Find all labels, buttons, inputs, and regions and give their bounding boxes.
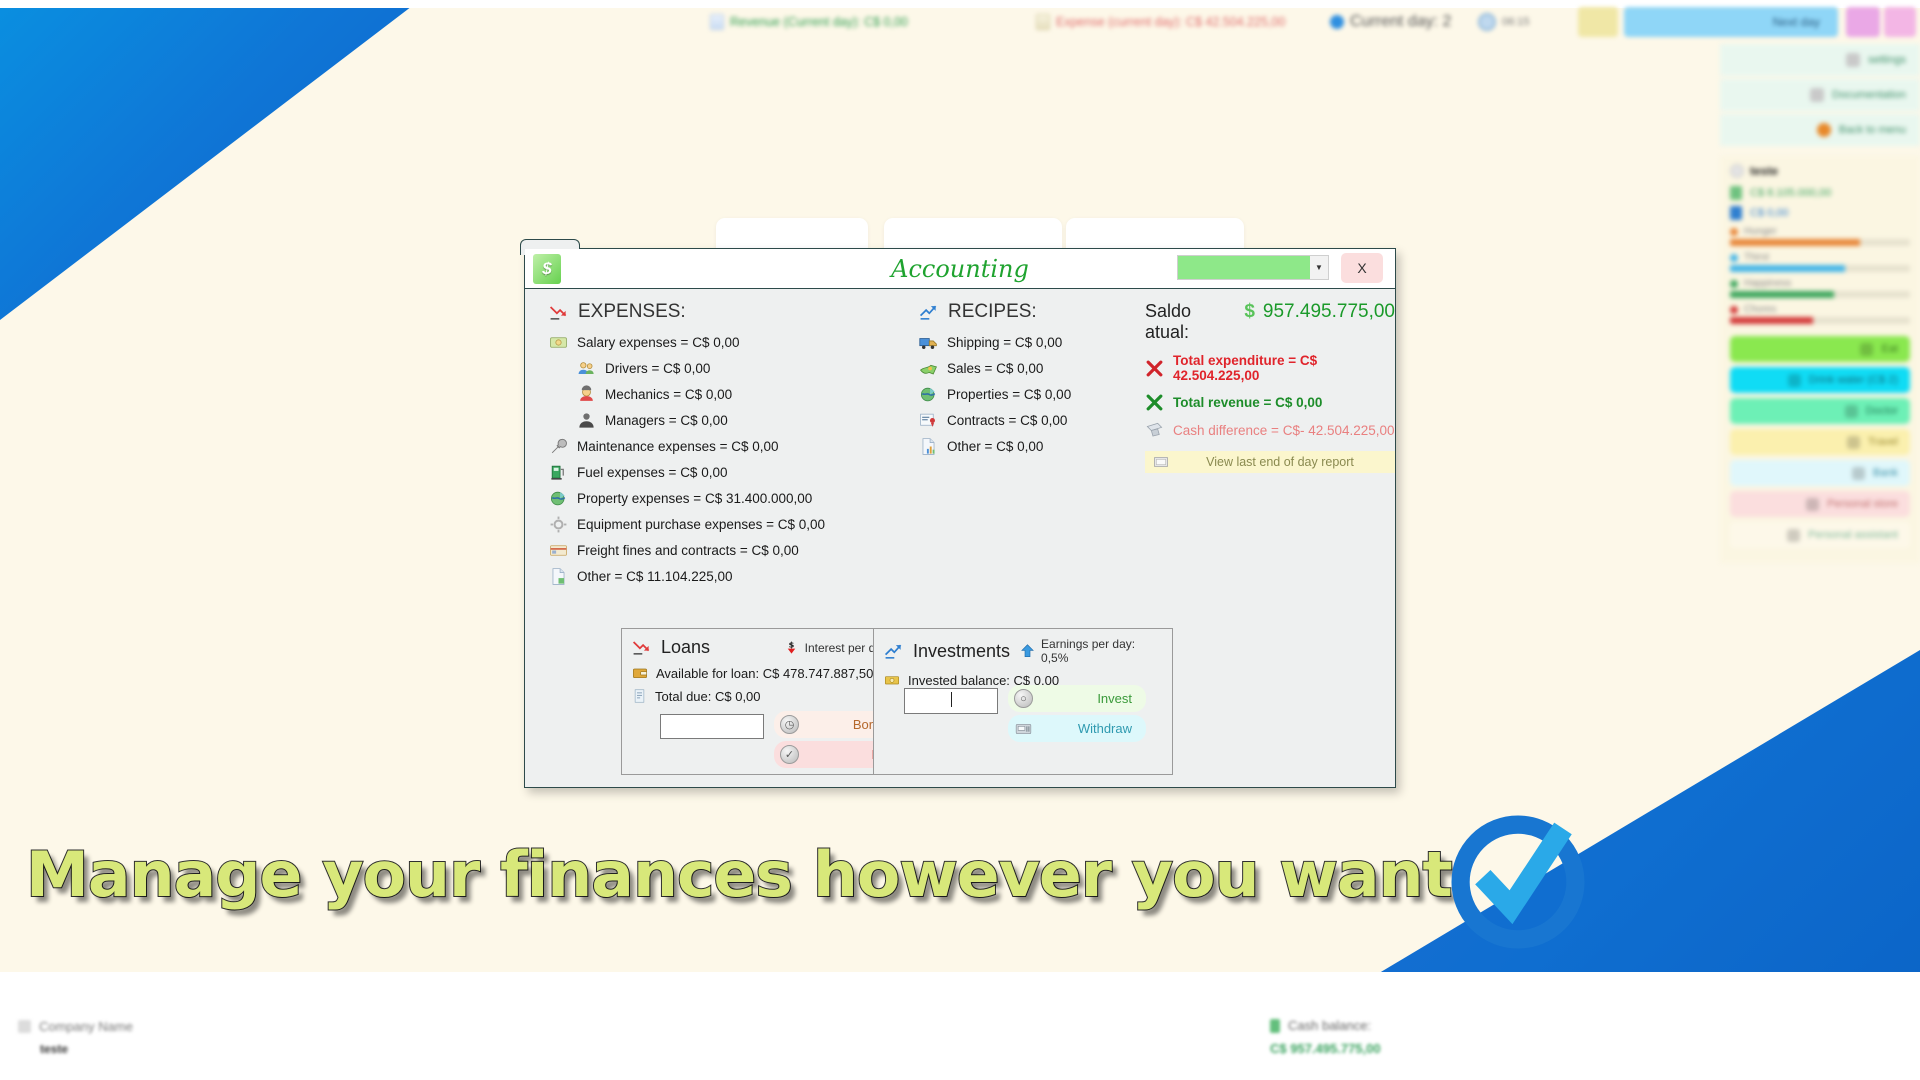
sidebar-item-label: Documentation <box>1832 89 1906 101</box>
next-day-label: Next day <box>1773 15 1820 29</box>
fuelpump-icon <box>549 463 568 482</box>
revenue-icon <box>710 14 724 30</box>
toolbar-expense-label: Expense (current day): C$ 42.504.225,00 <box>1056 15 1285 29</box>
ticket-icon <box>549 541 568 560</box>
expense-row: Maintenance expenses = C$ 0,00 <box>549 437 889 456</box>
recipe-row: Other = C$ 0,00 <box>919 437 1149 456</box>
loans-title: Loans <box>661 637 710 658</box>
svg-text:$: $ <box>788 639 794 649</box>
truck-icon <box>919 333 938 352</box>
sidebar-button-label: Drink water (C$ 2) <box>1809 374 1898 386</box>
trend-up-icon <box>919 303 938 322</box>
text-caret <box>951 692 952 707</box>
recipe-label: Properties = C$ 0,00 <box>947 387 1071 402</box>
bank-icon <box>1730 206 1742 220</box>
property-icon <box>919 385 938 404</box>
money-icon <box>549 333 568 352</box>
chevron-down-icon[interactable]: ▼ <box>1310 256 1328 279</box>
invest-label: Invest <box>1041 691 1132 706</box>
blue-check-badge-icon <box>1448 812 1588 952</box>
recipe-label: Shipping = C$ 0,00 <box>947 335 1062 350</box>
footer-company: Company Name teste <box>18 1019 133 1056</box>
stat-hunger: Hunger <box>1730 226 1910 246</box>
recipe-row: Contracts = C$ 0,00 <box>919 411 1149 430</box>
cash-icon <box>884 672 900 688</box>
recipe-label: Other = C$ 0,00 <box>947 439 1043 454</box>
info-icon <box>1330 15 1344 29</box>
atm-icon <box>1014 721 1033 737</box>
window-titlebar[interactable]: $ Accounting ▼ X <box>525 249 1395 289</box>
recipes-heading: RECIPES: <box>919 301 1149 323</box>
store-icon <box>1806 498 1819 511</box>
stat-label: Hunger <box>1744 226 1777 237</box>
toolbar-expense: Expense (current day): C$ 42.504.225,00 <box>1036 14 1285 30</box>
sales-icon <box>919 359 938 378</box>
toolbar-extra-button-2[interactable] <box>1884 7 1916 37</box>
trend-down-icon <box>632 638 651 657</box>
expense-label: Managers = C$ 0,00 <box>605 413 728 428</box>
sidebar-button-travel[interactable]: Travel <box>1730 429 1910 455</box>
sidebar-button-bank[interactable]: Bank <box>1730 460 1910 486</box>
balance-label: Saldo atual: <box>1145 301 1236 343</box>
stat-bar <box>1730 317 1910 324</box>
arrow-up-icon <box>1020 642 1035 660</box>
withdraw-button[interactable]: Withdraw <box>1008 715 1146 742</box>
expense-row: Other = C$ 11.104.225,00 <box>549 567 889 586</box>
cash-difference: Cash difference = C$- 42.504.225,00 <box>1145 421 1395 440</box>
footer-cash-balance: Cash balance: C$ 957.495.775,00 <box>1270 1018 1381 1056</box>
coin-icon: ○ <box>1014 689 1033 708</box>
dropdown-value <box>1178 256 1310 279</box>
stat-happiness: Happiness <box>1730 278 1910 298</box>
report-icon <box>1153 454 1169 470</box>
expense-label: Drivers = C$ 0,00 <box>605 361 710 376</box>
chartdoc-icon <box>919 437 938 456</box>
stat-label: Thirst <box>1744 252 1769 263</box>
sidebar-button-drink-water[interactable]: Drink water (C$ 2) <box>1730 367 1910 393</box>
wallet-icon <box>632 665 648 681</box>
sidebar-item-settings[interactable]: settings <box>1720 44 1920 76</box>
invest-button[interactable]: ○ Invest <box>1008 685 1146 712</box>
sidebar-item-documentation[interactable]: Documentation <box>1720 79 1920 111</box>
toolbar-revenue: Revenue (Current day): C$ 0,00 <box>710 14 908 30</box>
expense-row: Freight fines and contracts = C$ 0,00 <box>549 541 889 560</box>
total-expenditure: Total expenditure = C$ 42.504.225,00 <box>1145 353 1395 383</box>
book-icon <box>1810 88 1824 102</box>
total-expenditure-label: Total expenditure = C$ 42.504.225,00 <box>1173 353 1395 383</box>
sidebar-button-eat[interactable]: Eat <box>1730 336 1910 362</box>
balance-value: 957.495.775,00 <box>1263 301 1395 323</box>
chores-icon <box>1730 306 1738 314</box>
expense-label: Property expenses = C$ 31.400.000,00 <box>577 491 812 506</box>
expense-label: Mechanics = C$ 0,00 <box>605 387 732 402</box>
sidebar-button-label: Travel <box>1868 436 1898 448</box>
expense-row: Mechanics = C$ 0,00 <box>577 385 889 404</box>
expense-row: Fuel expenses = C$ 0,00 <box>549 463 889 482</box>
expenses-column: EXPENSES: Salary expenses = C$ 0,00 Driv… <box>549 301 889 586</box>
summary-column: Saldo atual: $ 957.495.775,00 Total expe… <box>1145 301 1395 473</box>
company-name-label: Company Name <box>39 1019 133 1034</box>
red-cross-icon <box>1145 359 1164 378</box>
total-revenue-label: Total revenue = C$ 0,00 <box>1173 395 1322 410</box>
player-card: teste C$ 8.105.000,00 C$ 0,00 Hunger Thi… <box>1720 156 1920 563</box>
bill-icon <box>1145 421 1164 440</box>
receipt-icon <box>632 688 647 704</box>
cash-balance-label: Cash balance: <box>1288 1018 1371 1033</box>
recipe-row: Properties = C$ 0,00 <box>919 385 1149 404</box>
sidebar-button-label: Eat <box>1881 343 1898 355</box>
expense-label: Salary expenses = C$ 0,00 <box>577 335 739 350</box>
building-icon <box>18 1020 31 1033</box>
property-icon <box>549 489 568 508</box>
sidebar-button-personal-store[interactable]: Personal store <box>1730 491 1910 517</box>
sidebar-item-label: Back to menu <box>1839 124 1906 136</box>
toolbar-clock-label: 06:15 <box>1502 16 1530 28</box>
report-button-label: View last end of day report <box>1177 455 1383 469</box>
expense-label: Maintenance expenses = C$ 0,00 <box>577 439 779 454</box>
top-toolbar[interactable]: Revenue (Current day): C$ 0,00 Expense (… <box>0 0 1920 44</box>
expense-row: Equipment purchase expenses = C$ 0,00 <box>549 515 889 534</box>
assistant-icon <box>1787 529 1800 542</box>
recipe-label: Contracts = C$ 0,00 <box>947 413 1067 428</box>
promo-banner-text: Manage your finances however you want <box>26 838 1452 911</box>
company-name-value: teste <box>40 1042 133 1056</box>
player-name: teste <box>1750 164 1778 178</box>
drivers-icon <box>577 359 596 378</box>
stat-bar <box>1730 239 1910 246</box>
contract-icon <box>919 411 938 430</box>
expense-icon <box>1036 14 1050 30</box>
investments-rate-label: Earnings per day: 0,5% <box>1041 637 1162 665</box>
player-bank: C$ 0,00 <box>1730 206 1910 220</box>
thirst-icon <box>1730 254 1738 262</box>
investments-panel: Investments Earnings per day: 0,5% Inves… <box>873 628 1173 775</box>
loan-amount-input[interactable] <box>660 714 764 739</box>
clock-icon <box>1478 13 1496 31</box>
next-day-button[interactable]: Next day <box>1624 7 1838 37</box>
cash-balance-value: C$ 957.495.775,00 <box>1270 1041 1381 1056</box>
sidebar-button-label: Personal assistant <box>1808 529 1898 541</box>
manager-icon <box>577 411 596 430</box>
sidebar-action-buttons[interactable]: Eat Drink water (C$ 2) Doctor Travel Ban… <box>1730 336 1910 548</box>
loans-available-label: Available for loan: C$ 478.747.887,50 <box>656 666 873 681</box>
toolbar-day-label: Current day: 2 <box>1350 13 1451 31</box>
expense-label: Equipment purchase expenses = C$ 0,00 <box>577 517 825 532</box>
hunger-icon <box>1730 228 1738 236</box>
doctor-icon <box>1845 405 1858 418</box>
toolbar-extra-button-1[interactable] <box>1846 7 1880 37</box>
investments-earnings-rate: Earnings per day: 0,5% <box>1020 637 1162 665</box>
decor-white-strip-bottom <box>0 972 1920 1080</box>
equipment-icon <box>549 515 568 534</box>
stat-thirst: Thirst <box>1730 252 1910 272</box>
toolbar-current-day: Current day: 2 <box>1330 13 1451 31</box>
expense-row: Managers = C$ 0,00 <box>577 411 889 430</box>
bank-icon <box>1852 467 1865 480</box>
view-last-end-of-day-report-button[interactable]: View last end of day report <box>1145 451 1395 473</box>
trend-up-icon <box>884 642 903 661</box>
window-dropdown[interactable]: ▼ <box>1177 255 1329 280</box>
toolbar-pause-button[interactable] <box>1578 7 1618 37</box>
happiness-icon <box>1730 280 1738 288</box>
toolbar-revenue-label: Revenue (Current day): C$ 0,00 <box>730 15 908 29</box>
sidebar-button-label: Bank <box>1873 467 1898 479</box>
stat-bar <box>1730 291 1910 298</box>
expense-row: Salary expenses = C$ 0,00 <box>549 333 889 352</box>
mechanic-icon <box>577 385 596 404</box>
recipes-column: RECIPES: Shipping = C$ 0,00 Sales = C$ 0… <box>919 301 1149 456</box>
back-icon <box>1817 123 1831 137</box>
food-icon <box>1860 343 1873 356</box>
current-balance: Saldo atual: $ 957.495.775,00 <box>1145 301 1395 343</box>
expense-label: Freight fines and contracts = C$ 0,00 <box>577 543 799 558</box>
green-cross-icon <box>1145 393 1164 412</box>
sidebar-button-doctor[interactable]: Doctor <box>1730 398 1910 424</box>
investments-header: Investments Earnings per day: 0,5% <box>874 629 1172 665</box>
expense-row: Property expenses = C$ 31.400.000,00 <box>549 489 889 508</box>
expense-row: Drivers = C$ 0,00 <box>577 359 889 378</box>
window-body: EXPENSES: Salary expenses = C$ 0,00 Driv… <box>525 289 1395 788</box>
wrench-icon <box>549 437 568 456</box>
avatar <box>1730 164 1744 178</box>
stat-chores: Chores <box>1730 304 1910 324</box>
recipe-label: Sales = C$ 0,00 <box>947 361 1043 376</box>
dollar-icon: $ <box>1244 301 1255 323</box>
stat-label: Happiness <box>1744 278 1791 289</box>
recipe-row: Shipping = C$ 0,00 <box>919 333 1149 352</box>
stat-label: Chores <box>1744 304 1776 315</box>
money-icon <box>1730 186 1742 200</box>
sidebar-item-label: settings <box>1868 54 1906 66</box>
expense-label: Fuel expenses = C$ 0,00 <box>577 465 727 480</box>
total-revenue: Total revenue = C$ 0,00 <box>1145 393 1395 412</box>
check-circle-icon: ✓ <box>780 745 799 764</box>
withdraw-label: Withdraw <box>1041 721 1132 736</box>
sidebar-button-label: Personal store <box>1827 498 1898 510</box>
money-icon <box>1270 1019 1280 1033</box>
sidebar-item-back-to-menu[interactable]: Back to menu <box>1720 114 1920 146</box>
tools-icon <box>1846 53 1860 67</box>
sidebar-button-personal-assistant[interactable]: Personal assistant <box>1730 522 1910 548</box>
expense-label: Other = C$ 11.104.225,00 <box>577 569 733 584</box>
stat-bar <box>1730 265 1910 272</box>
investments-title: Investments <box>913 641 1010 662</box>
cash-difference-label: Cash difference = C$- 42.504.225,00 <box>1173 423 1395 438</box>
toolbar-clock: 06:15 <box>1478 13 1530 31</box>
clock-icon: ◷ <box>780 715 799 734</box>
expenses-heading-label: EXPENSES: <box>578 301 686 323</box>
document-icon <box>549 567 568 586</box>
recipe-row: Sales = C$ 0,00 <box>919 359 1149 378</box>
trend-down-icon <box>549 303 568 322</box>
dollar-down-icon: $ <box>784 639 799 657</box>
player-name-row: teste <box>1730 164 1910 178</box>
travel-icon <box>1847 436 1860 449</box>
loans-due-label: Total due: C$ 0,00 <box>655 689 761 704</box>
player-cash: C$ 8.105.000,00 <box>1730 186 1910 200</box>
water-icon <box>1788 374 1801 387</box>
player-cash-value: C$ 8.105.000,00 <box>1750 187 1831 199</box>
expenses-heading: EXPENSES: <box>549 301 889 323</box>
close-button[interactable]: X <box>1341 253 1383 283</box>
accounting-window[interactable]: $ Accounting ▼ X EXPENSES: <box>524 248 1396 788</box>
player-bank-value: C$ 0,00 <box>1750 207 1789 219</box>
sidebar-button-label: Doctor <box>1866 405 1898 417</box>
right-sidebar[interactable]: settings Documentation Back to menu test… <box>1720 44 1920 644</box>
recipes-heading-label: RECIPES: <box>948 301 1037 323</box>
